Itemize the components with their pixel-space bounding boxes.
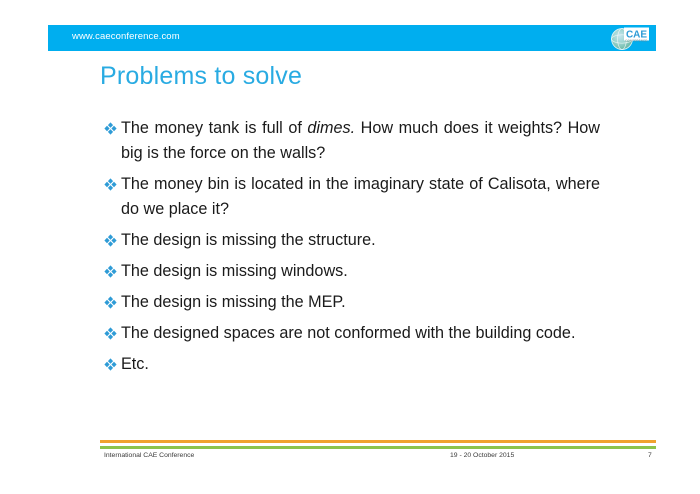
four-diamond-bullet-icon <box>104 116 121 135</box>
plain-text: The money tank is full of <box>121 119 307 137</box>
bullet-list: The money tank is full of dimes. How muc… <box>104 116 600 383</box>
bullet-missing-structure: The design is missing the structure. <box>104 228 600 253</box>
logo-conference-text: CONFERENCE <box>625 39 647 43</box>
bullet-money-bin: The money bin is located in the imaginar… <box>104 172 600 222</box>
four-diamond-bullet-icon <box>104 228 121 247</box>
bullet-money-bin-text: The money bin is located in the imaginar… <box>121 172 600 222</box>
bullet-etc-text: Etc. <box>121 352 600 377</box>
four-diamond-bullet-icon <box>104 321 121 340</box>
plain-text: Etc. <box>121 355 149 373</box>
bullet-missing-mep: The design is missing the MEP. <box>104 290 600 315</box>
bullet-building-code-text: The designed spaces are not conformed wi… <box>121 321 600 346</box>
footer-rule-green <box>100 446 656 449</box>
plain-text: The designed spaces are not conformed wi… <box>121 324 575 342</box>
bullet-money-tank-text: The money tank is full of dimes. How muc… <box>121 116 600 166</box>
four-diamond-bullet-icon <box>104 352 121 371</box>
footer-divider <box>100 440 656 449</box>
bullet-missing-mep-text: The design is missing the MEP. <box>121 290 600 315</box>
bullet-money-tank: The money tank is full of dimes. How muc… <box>104 116 600 166</box>
four-diamond-bullet-icon <box>104 172 121 191</box>
bullet-etc: Etc. <box>104 352 600 377</box>
bullet-missing-windows-text: The design is missing windows. <box>121 259 600 284</box>
emphasis-text: dimes. <box>307 119 355 137</box>
footer: International CAE Conference 19 - 20 Oct… <box>100 452 656 466</box>
footer-date: 19 - 20 October 2015 <box>450 452 514 459</box>
bullet-missing-windows: The design is missing windows. <box>104 259 600 284</box>
header-bar: www.caeconference.com CAE CONFERENCE <box>48 25 656 51</box>
header-website-url: www.caeconference.com <box>72 31 180 42</box>
footer-conference-name: International CAE Conference <box>104 452 194 459</box>
plain-text: The money bin is located in the imaginar… <box>121 175 600 218</box>
footer-page-number: 7 <box>648 452 652 459</box>
slide-canvas: www.caeconference.com CAE CONFERENCE <box>0 0 700 494</box>
bullet-building-code: The designed spaces are not conformed wi… <box>104 321 600 346</box>
bullet-missing-structure-text: The design is missing the structure. <box>121 228 600 253</box>
page-title: Problems to solve <box>100 62 302 91</box>
plain-text: The design is missing windows. <box>121 262 348 280</box>
four-diamond-bullet-icon <box>104 259 121 278</box>
cae-globe-logo: CAE CONFERENCE <box>606 26 650 50</box>
plain-text: The design is missing the structure. <box>121 231 376 249</box>
plain-text: The design is missing the MEP. <box>121 293 346 311</box>
four-diamond-bullet-icon <box>104 290 121 309</box>
